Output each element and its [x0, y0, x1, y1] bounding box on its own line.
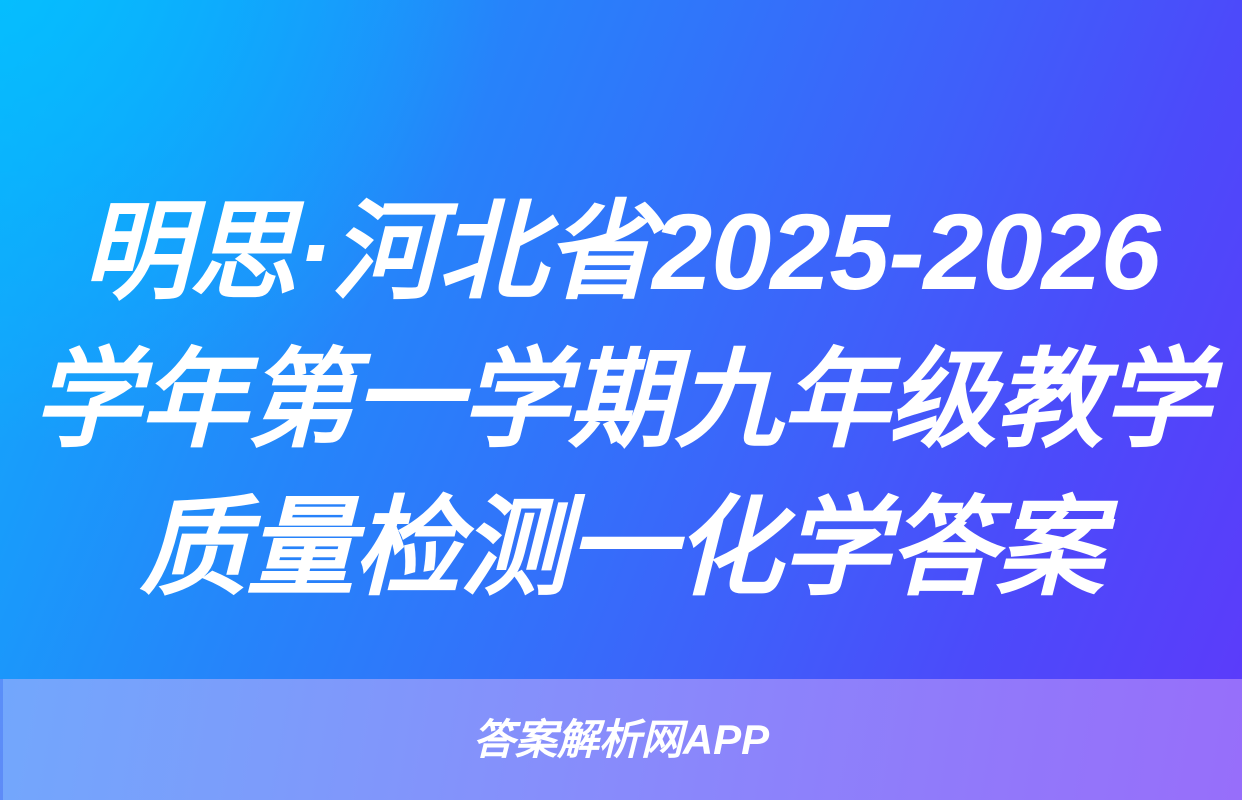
poster-canvas: 明思·河北省2025-2026 学年第一学期九年级教学 质量检测一化学答案 答案… [0, 0, 1242, 800]
title-line-3: 质量检测一化学答案 [0, 474, 1242, 622]
title-line-2: 学年第一学期九年级教学 [0, 326, 1242, 474]
poster-title-block: 明思·河北省2025-2026 学年第一学期九年级教学 质量检测一化学答案 [0, 178, 1242, 622]
title-line-1: 明思·河北省2025-2026 [0, 178, 1242, 326]
footer-app-watermark: 答案解析网APP [473, 719, 769, 761]
footer-band: 答案解析网APP [0, 679, 1242, 800]
footer-left-edge-accent [0, 679, 3, 800]
